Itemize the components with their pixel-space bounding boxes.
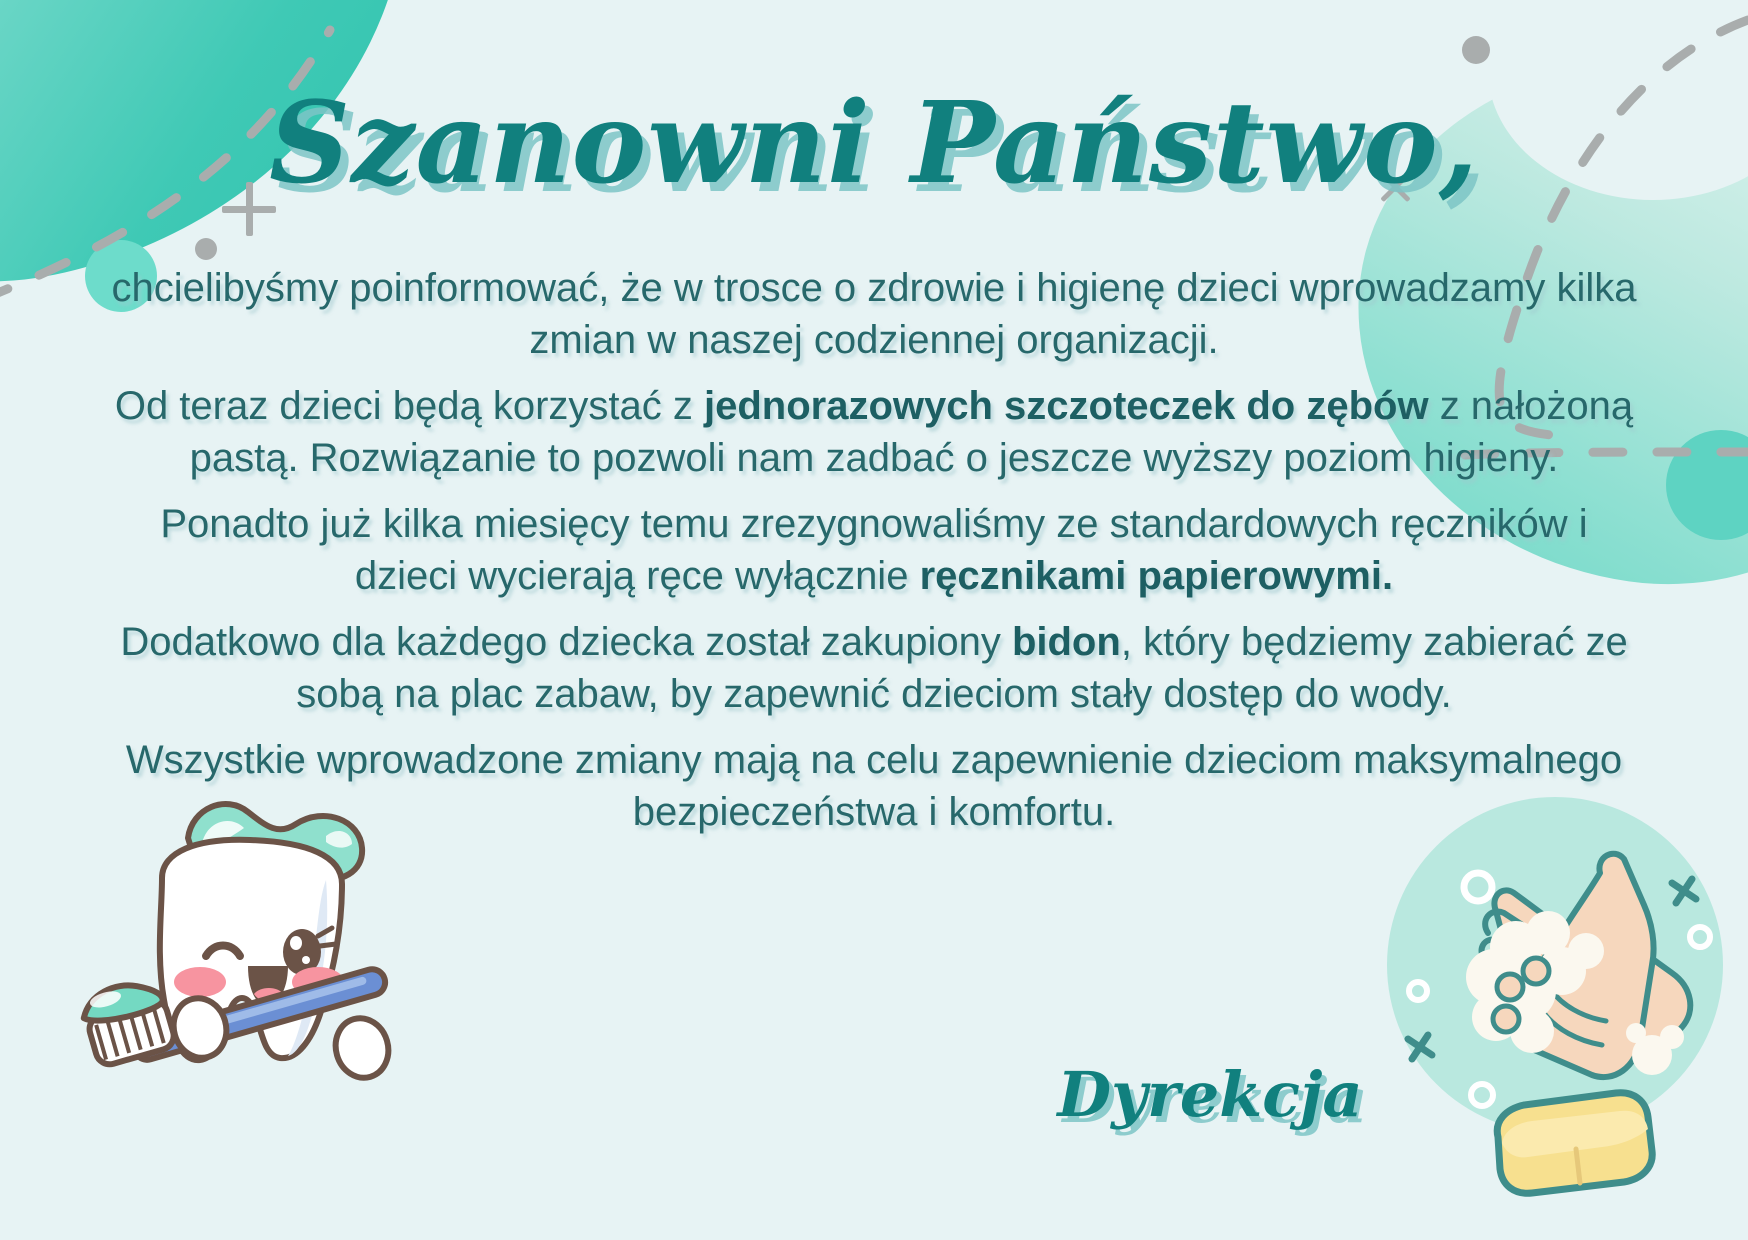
announcement-paragraph: chcielibyśmy poinformować, że w trosce o… xyxy=(105,262,1643,366)
announcement-paragraph: Dodatkowo dla każdego dziecka został zak… xyxy=(105,616,1643,720)
soap-bar-illustration xyxy=(1470,1085,1700,1240)
body-text: Dodatkowo dla każdego dziecka został zak… xyxy=(120,620,1012,664)
body-text: Od teraz dzieci będą korzystać z xyxy=(115,384,704,428)
page-title: Szanowni Państwo, xyxy=(0,78,1748,209)
poster-canvas: Szanowni Państwo, chcielibyśmy poinformo… xyxy=(0,0,1748,1240)
tooth-mascot-illustration xyxy=(40,760,460,1090)
announcement-paragraph: Ponadto już kilka miesięcy temu zrezygno… xyxy=(105,498,1643,602)
emphasis-text: ręcznikami papierowymi. xyxy=(920,554,1394,598)
announcement-paragraph: Od teraz dzieci będą korzystać z jednora… xyxy=(105,380,1643,484)
body-text: chcielibyśmy poinformować, że w trosce o… xyxy=(111,266,1636,362)
emphasis-text: bidon xyxy=(1012,620,1121,664)
signature-dyrekcja: Dyrekcja xyxy=(1040,1058,1380,1131)
emphasis-text: jednorazowych szczoteczek do zębów xyxy=(704,384,1429,428)
